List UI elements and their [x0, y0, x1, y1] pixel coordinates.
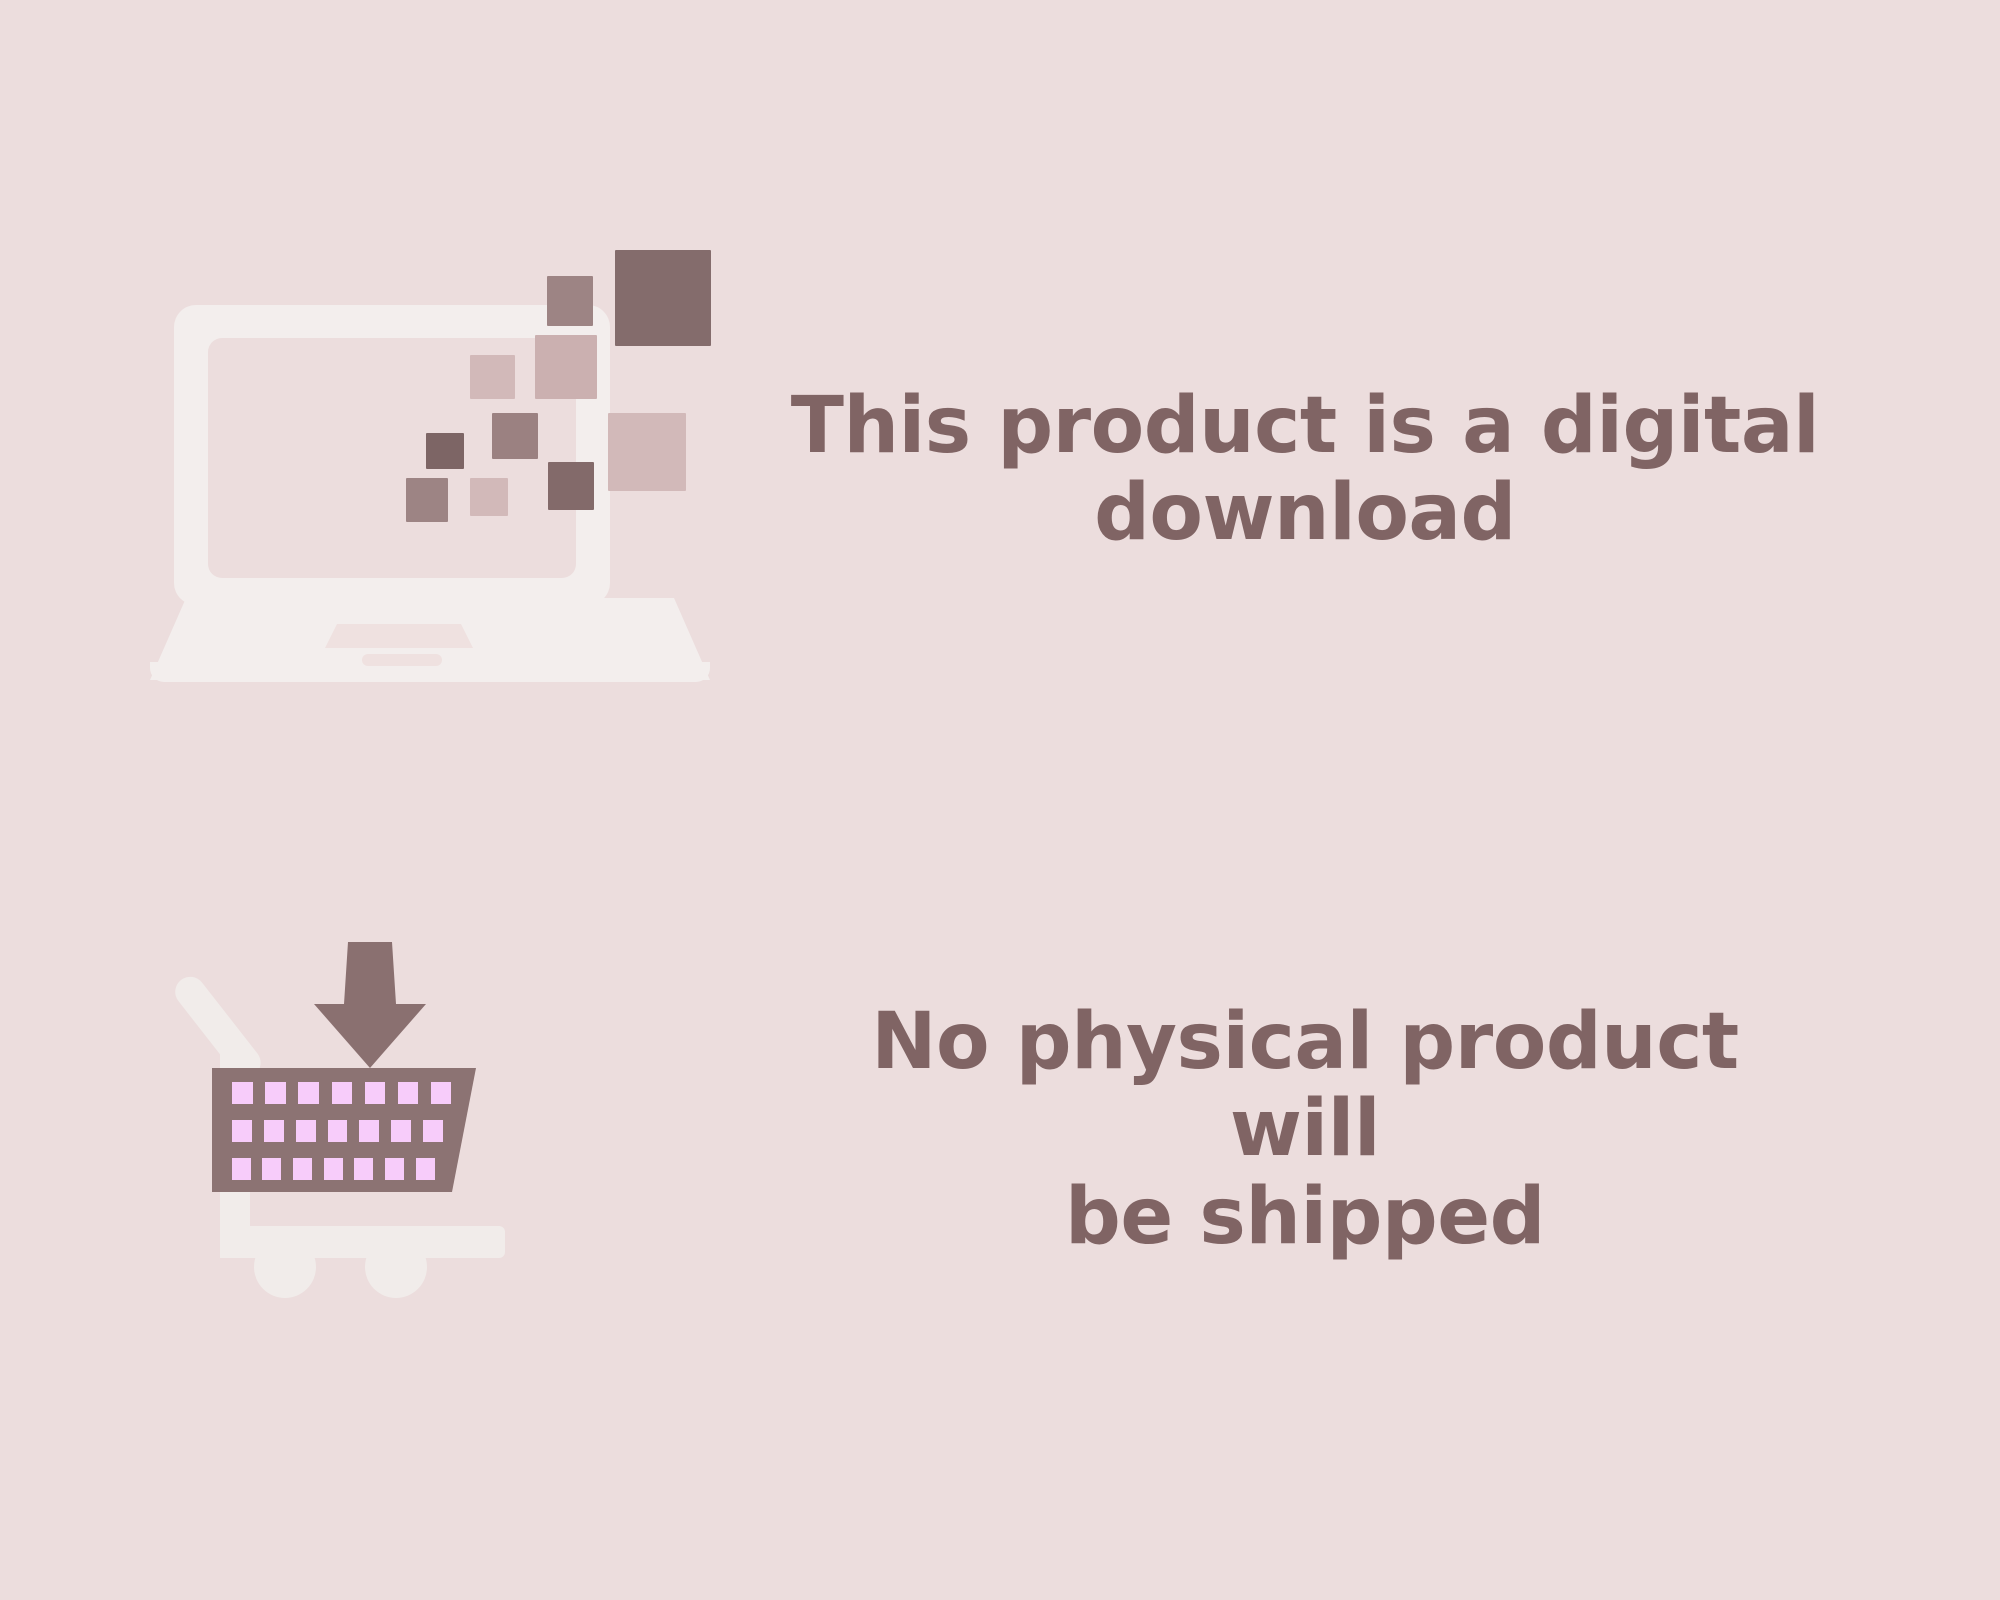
pixel-8	[548, 462, 594, 510]
laptop-front-lip	[362, 654, 442, 666]
pixel-1	[547, 276, 593, 326]
pixel-10	[470, 478, 508, 516]
basket-cell	[354, 1158, 373, 1180]
pixel-7	[426, 433, 464, 469]
basket-cell	[232, 1120, 252, 1142]
basket-cell	[328, 1120, 348, 1142]
notice-row-digital-download: This product is a digital download	[150, 250, 1870, 690]
basket-cell	[232, 1158, 251, 1180]
download-arrow-icon	[310, 942, 430, 1072]
pixel-5	[608, 413, 686, 491]
laptop-icon-cell	[150, 250, 710, 690]
no-shipping-label: No physical product will be shipped	[790, 999, 1820, 1261]
pixel-6	[492, 413, 538, 459]
basket-cell	[431, 1082, 452, 1104]
pixel-3	[535, 335, 597, 399]
basket-cell	[296, 1120, 316, 1142]
notice-row-no-shipping: No physical product will be shipped	[150, 930, 1870, 1330]
basket-cell	[264, 1120, 284, 1142]
cart-handle	[169, 971, 267, 1084]
basket-cell	[265, 1082, 286, 1104]
pixel-2	[615, 250, 711, 346]
basket-cell	[385, 1158, 404, 1180]
laptop-trackpad	[325, 624, 473, 648]
basket-cell	[365, 1082, 386, 1104]
pixel-4	[470, 355, 515, 399]
cart-wheel-right	[365, 1236, 427, 1298]
floating-pixel-squares	[450, 250, 710, 550]
basket-cell	[359, 1120, 379, 1142]
basket-cell	[232, 1082, 253, 1104]
pixel-9	[406, 478, 448, 522]
no-shipping-text-cell: No physical product will be shipped	[790, 930, 1820, 1330]
basket-cell	[398, 1082, 419, 1104]
basket-cell	[423, 1120, 443, 1142]
cart-wheel-left	[254, 1236, 316, 1298]
laptop-with-pixels-icon	[150, 250, 710, 690]
basket-cell	[332, 1082, 353, 1104]
cart-icon-cell	[150, 930, 590, 1330]
cart-basket-grid	[212, 1068, 476, 1192]
digital-download-notice-graphic: This product is a digital download No ph…	[0, 0, 2000, 1600]
basket-cell	[298, 1082, 319, 1104]
shopping-cart-download-icon	[150, 930, 590, 1330]
basket-cell	[391, 1120, 411, 1142]
basket-cell	[416, 1158, 435, 1180]
digital-download-text-cell: This product is a digital download	[790, 250, 1820, 690]
basket-cell	[293, 1158, 312, 1180]
basket-cell	[324, 1158, 343, 1180]
digital-download-label: This product is a digital download	[791, 383, 1819, 558]
basket-cell	[262, 1158, 281, 1180]
